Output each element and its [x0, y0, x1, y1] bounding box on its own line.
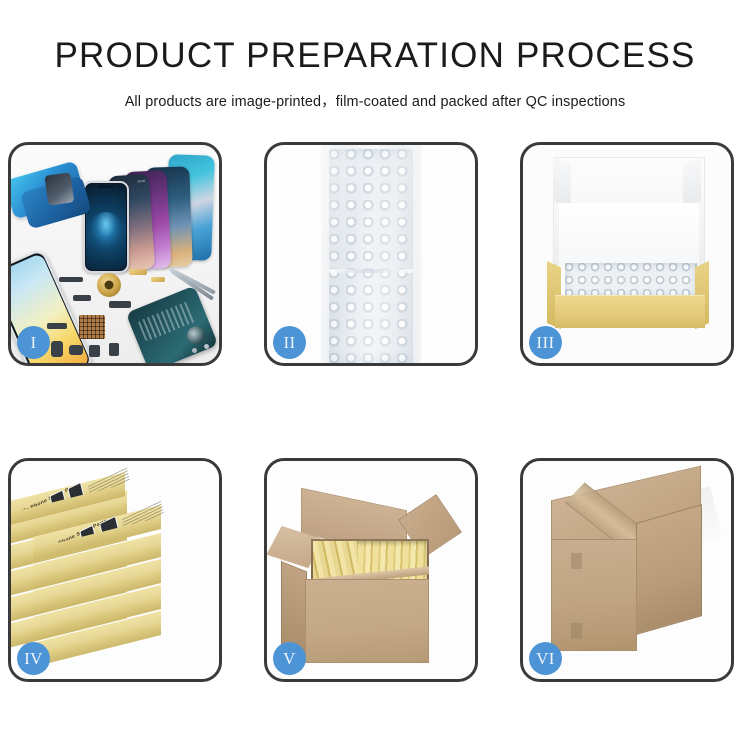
flex-cable-part: [129, 269, 147, 275]
step-badge-3: III: [529, 326, 562, 359]
shield-plate-part: [47, 323, 67, 329]
process-step-6[interactable]: VI: [520, 458, 734, 682]
flex-cable-part: [151, 277, 165, 282]
process-step-4[interactable]: Mobile Phone Spare Parts: [8, 458, 222, 682]
connector-part: [109, 301, 131, 308]
process-step-grid: 09:08: [8, 142, 734, 682]
page-title: PRODUCT PREPARATION PROCESS: [0, 36, 750, 76]
carton-side-right: [636, 504, 702, 635]
vibrator-motor-part: [69, 345, 83, 355]
screw-part: [204, 344, 209, 349]
plastic-sheen: [321, 145, 421, 363]
step-badge-2: II: [273, 326, 306, 359]
step-badge-1: I: [17, 326, 50, 359]
battery-connector-part: [51, 341, 63, 357]
screw-part: [192, 348, 197, 353]
lid-fold-left: [553, 157, 571, 207]
carton-front: [551, 539, 637, 651]
process-step-5[interactable]: V: [264, 458, 478, 682]
chip-array-part: [79, 315, 105, 339]
stacked-box-printed: Mobile Phone Spare Parts: [11, 487, 125, 509]
earpiece-part: [109, 343, 119, 356]
lcd-panel-fragment: [44, 172, 74, 205]
camera-module-part: [89, 345, 100, 357]
carton-seam: [571, 623, 582, 639]
process-step-3[interactable]: III: [520, 142, 734, 366]
box-front-kraft: [555, 295, 705, 328]
box-inner-wall: [559, 203, 699, 265]
screen-glass: [86, 184, 126, 270]
connector-part: [73, 295, 91, 301]
page-header: PRODUCT PREPARATION PROCESS All products…: [0, 0, 750, 111]
process-step-2[interactable]: II: [264, 142, 478, 366]
bubble-wrap-pouch: [321, 145, 421, 363]
step-badge-4: IV: [17, 642, 50, 675]
carton-seam: [571, 553, 582, 569]
process-step-1[interactable]: 09:08: [8, 142, 222, 366]
step-badge-6: VI: [529, 642, 562, 675]
tweezers-icon: [163, 291, 215, 337]
stacked-box-printed: Mobile Phone Spare Parts: [33, 521, 161, 543]
page-subtitle: All products are image-printed，film-coat…: [0, 90, 750, 111]
speaker-coil-part: [97, 273, 121, 297]
lid-fold-right: [683, 157, 701, 207]
phone-front-glass: [83, 181, 129, 273]
bubble-wrap-inside-box: [565, 263, 697, 297]
notch-icon: [98, 185, 114, 188]
carton-front: [305, 579, 429, 663]
status-bar-text: 09:08: [137, 179, 145, 184]
step-badge-5: V: [273, 642, 306, 675]
antenna-strip-part: [59, 277, 83, 282]
